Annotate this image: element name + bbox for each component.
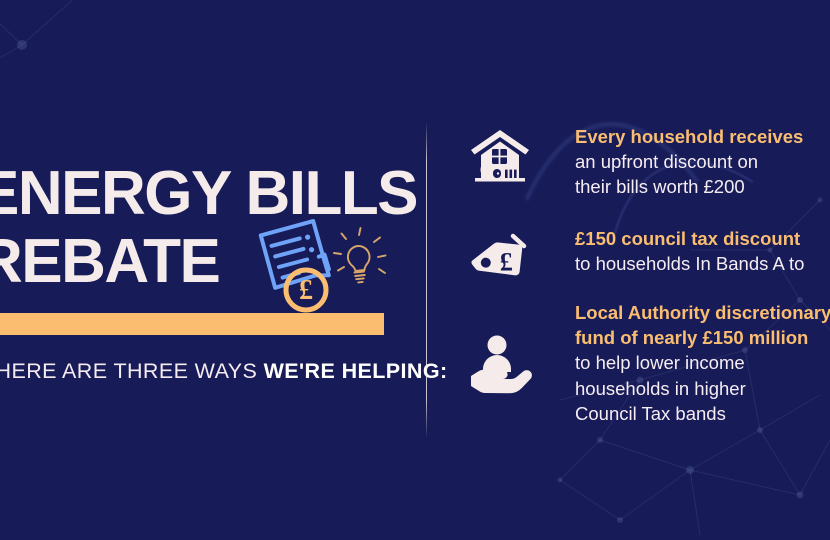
svg-text:£: £ [500,247,513,276]
benefit-3-headline-line-2: fund of nearly £150 million [575,325,830,350]
benefit-item-1: Every household receives an upfront disc… [460,124,803,200]
subheading-normal: THERE ARE THREE WAYS [0,359,264,383]
benefit-2-headline: £150 council tax discount [575,226,804,251]
left-panel: ENERGY BILLS REBATE £ [0,0,426,540]
house-icon-wrap [460,124,540,188]
orange-accent-bar [0,313,384,335]
hand-holding-person-icon [467,334,533,394]
hand-icon-wrap [460,300,540,394]
subheading-bold: WE'RE HELPING: [264,359,448,383]
price-tag-icon-wrap: £ [460,226,540,292]
right-panel: Every household receives an upfront disc… [460,0,830,540]
subheading: THERE ARE THREE WAYS WE'RE HELPING: [0,358,448,384]
bill-illustration: £ [246,214,391,319]
benefit-1-body-line-1: an upfront discount on [575,149,803,174]
benefit-item-1-text: Every household receives an upfront disc… [540,124,803,200]
vertical-divider [426,124,427,436]
benefit-item-2-text: £150 council tax discount to households … [540,226,804,276]
pound-coin-icon: £ [286,270,326,310]
benefit-3-headline-line-1: Local Authority discretionary [575,300,830,325]
benefit-item-2: £ £150 council tax discount to household… [460,226,804,292]
benefit-item-3: Local Authority discretionary fund of ne… [460,300,830,426]
svg-text:£: £ [299,275,313,306]
benefit-3-body-line-3: Council Tax bands [575,401,830,426]
benefit-3-body-line-1: to help lower income [575,350,830,375]
benefit-2-body-line-1: to households In Bands A to [575,251,804,276]
benefit-1-headline: Every household receives [575,124,803,149]
benefit-1-body-line-2: their bills worth £200 [575,174,803,199]
lightbulb-icon [334,228,386,282]
price-tag-pound-icon: £ [469,230,531,292]
infographic-canvas: ENERGY BILLS REBATE £ [0,0,830,540]
house-icon [469,128,531,188]
benefit-item-3-text: Local Authority discretionary fund of ne… [540,300,830,426]
benefit-3-body-line-2: households in higher [575,376,830,401]
